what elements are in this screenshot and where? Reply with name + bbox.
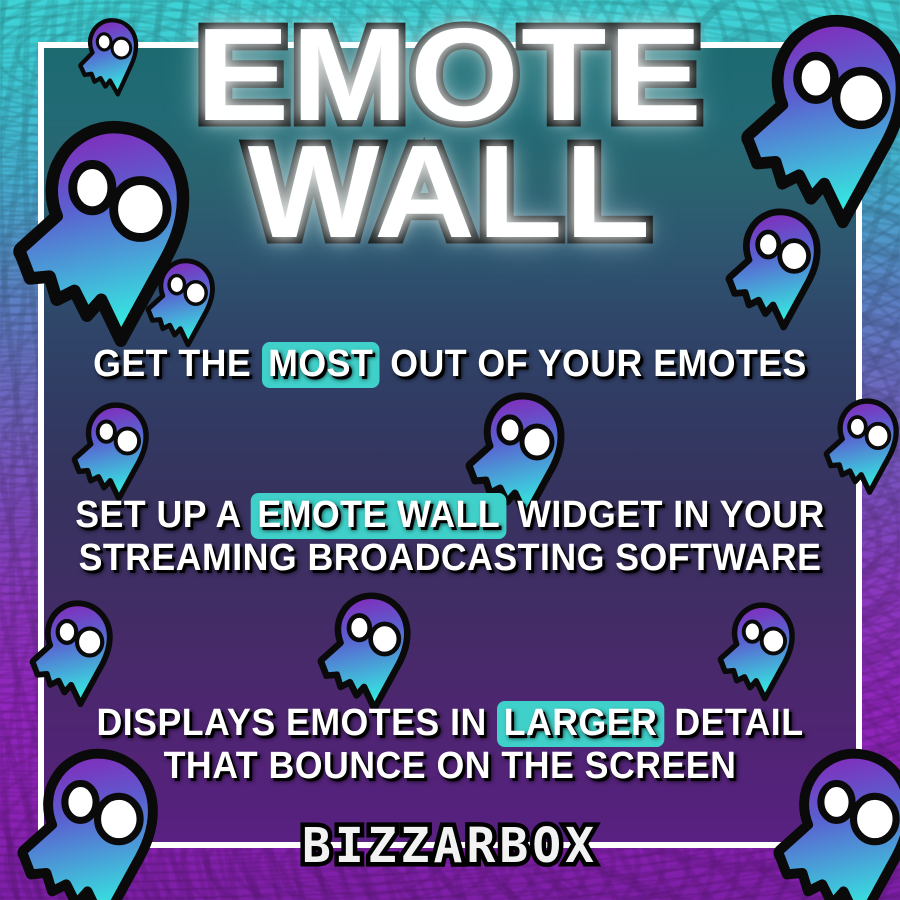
tagline-1-line-1: GET THE MOST OUT OF YOUR EMOTES [74,343,826,386]
tagline-text: DISPLAYS EMOTES IN [97,702,498,744]
ghost-far-right-small [824,398,900,495]
ghost-mid-left-tiny [146,258,216,348]
tagline-3: DISPLAYS EMOTES IN LARGER DETAILTHAT BOU… [74,702,826,787]
tagline-1: GET THE MOST OUT OF YOUR EMOTES [74,343,826,386]
tagline-text: THAT BOUNCE ON THE SCREEN [164,745,737,787]
tagline-2-line-1: SET UP A EMOTE WALL WIDGET IN YOUR [74,494,826,537]
emote-wall-promo-poster: EMOTE WALL GET THE MOST OUT OF YOUR EMOT… [0,0,900,900]
tagline-3-line-2: THAT BOUNCE ON THE SCREEN [74,745,826,788]
ghost-mascot-icon [718,602,796,702]
ghost-lower-right-small [718,602,796,702]
ghost-mascot-icon [146,258,216,348]
tagline-text: STREAMING BROADCASTING SOFTWARE [79,537,822,579]
tagline-text: WIDGET IN YOUR [507,494,825,536]
title-line-wall: WALL [0,131,900,254]
ghost-left-small [72,402,150,502]
page-title: EMOTE WALL [0,14,900,254]
tagline-text: GET THE [93,343,261,385]
ghost-lower-left-small [30,600,114,708]
highlighted-phrase: EMOTE WALL [251,493,507,539]
brand-logo: BIZZARBOX [0,818,900,874]
ghost-mascot-icon [30,600,114,708]
brand-name-bizzarbox: BIZZARBOX [302,818,598,874]
ghost-mascot-icon [824,398,900,495]
tagline-text: DETAIL [664,702,804,744]
ghost-mascot-icon [318,592,412,712]
ghost-lower-mid-medium [318,592,412,712]
tagline-2-line-2: STREAMING BROADCASTING SOFTWARE [74,537,826,580]
tagline-text: SET UP A [75,494,251,536]
highlighted-phrase: LARGER [497,701,664,747]
tagline-text: OUT OF YOUR EMOTES [380,343,807,385]
highlighted-phrase: MOST [262,342,380,388]
ghost-mascot-icon [72,402,150,502]
tagline-3-line-1: DISPLAYS EMOTES IN LARGER DETAIL [74,702,826,745]
tagline-2: SET UP A EMOTE WALL WIDGET IN YOURSTREAM… [74,494,826,579]
